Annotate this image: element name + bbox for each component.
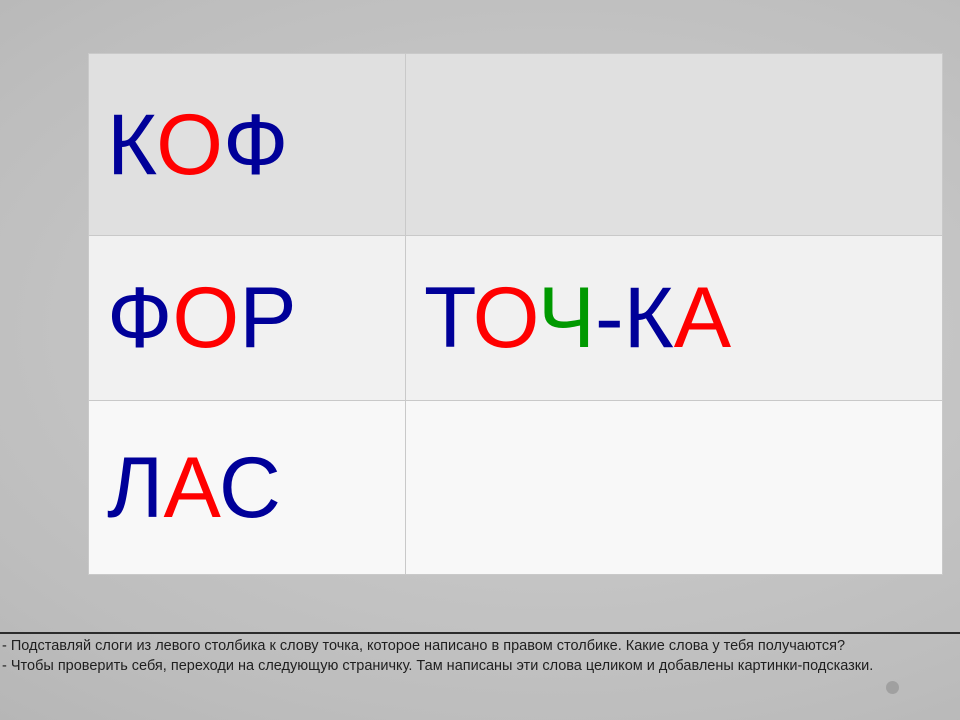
instructions-block: - Подставляй слоги из левого столбика к … (2, 636, 958, 676)
letter-А: А (674, 270, 731, 366)
letter--: - (595, 270, 624, 366)
decorative-dot-icon (886, 681, 899, 694)
syllable-cell-left-1[interactable]: КОФ (89, 54, 406, 236)
syllable-cell-left-3[interactable]: ЛАС (89, 401, 406, 575)
syllable-kof: КОФ (107, 102, 288, 188)
instruction-line-2: - Чтобы проверить себя, переходи на след… (2, 656, 958, 676)
letter-Ч: Ч (538, 270, 595, 366)
letter-О: О (473, 270, 538, 366)
syllable-las: ЛАС (107, 445, 281, 531)
table-row: КОФ (89, 54, 943, 236)
slide-canvas: КОФ ФОР ТОЧ-КА ЛАС - Подставляй слоги из… (0, 0, 960, 720)
syllable-cell-right-3[interactable] (406, 401, 943, 575)
syllable-cell-left-2[interactable]: ФОР (89, 236, 406, 401)
letter-Ф: Ф (223, 97, 288, 193)
instruction-line-1: - Подставляй слоги из левого столбика к … (2, 636, 958, 656)
letter-С: С (219, 440, 281, 536)
syllable-cell-right-1[interactable] (406, 54, 943, 236)
letter-Л: Л (107, 440, 163, 536)
table-body: КОФ ФОР ТОЧ-КА ЛАС (89, 54, 943, 575)
letter-Р: Р (239, 270, 296, 366)
letter-К: К (624, 270, 674, 366)
letter-О: О (156, 97, 223, 193)
letter-Ф: Ф (107, 270, 172, 366)
syllable-cell-right-2[interactable]: ТОЧ-КА (406, 236, 943, 401)
letter-Т: Т (424, 270, 473, 366)
word-tochka: ТОЧ-КА (424, 275, 731, 361)
letter-О: О (172, 270, 239, 366)
notes-divider (0, 632, 960, 634)
table-row: ФОР ТОЧ-КА (89, 236, 943, 401)
letter-А: А (163, 440, 218, 536)
syllable-table: КОФ ФОР ТОЧ-КА ЛАС (88, 53, 943, 575)
syllable-for: ФОР (107, 275, 297, 361)
letter-К: К (107, 97, 156, 193)
table-row: ЛАС (89, 401, 943, 575)
